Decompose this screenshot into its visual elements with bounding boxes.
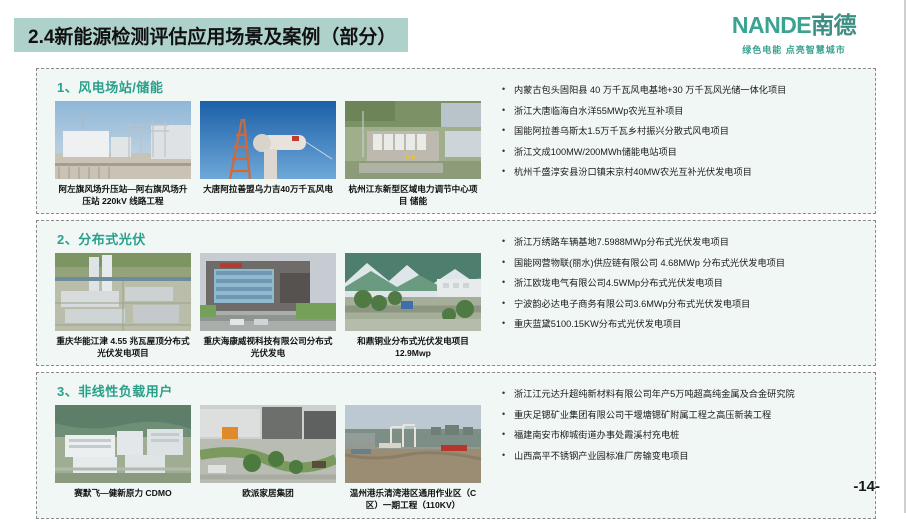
list-item: 国能阿拉善乌斯太1.5万千瓦乡村振兴分散式风电项目 [500,126,867,138]
section-3-heading: 3、非线性负载用户 [57,381,486,400]
card-caption: 重庆华能江津 4.55 兆瓦屋顶分布式光伏发电项目 [55,336,191,359]
card[interactable]: 赛默飞—健新原力 CDMO [55,405,191,511]
card-caption: 杭州江东新型区域电力调节中心项目 储能 [345,184,481,207]
section-2-bullets: 浙江万绣路车辆基地7.5988MWp分布式光伏发电项目 国能网营物联(丽水)供应… [486,227,867,359]
card-caption: 重庆海康威视科技有限公司分布式光伏发电 [200,336,336,359]
list-item: 宁波韵必达电子商务有限公司3.6MWp分布式光伏发电项目 [500,299,867,311]
slide-header: 2.4新能源检测评估应用场景及案例（部分） NANDE南德 绿色电能 点亮智慧城… [0,0,906,66]
section-1-bullets: 内蒙古包头固阳县 40 万千瓦风电基地+30 万千瓦风光储一体化项目 浙江大唐临… [486,75,867,207]
card-caption: 大唐阿拉善盟乌力吉40万千瓦风电 [200,184,336,196]
section-3-cards: 赛默飞—健新原力 CDMO [55,405,486,511]
factory-courtyard-photo [200,405,336,483]
wind-turbine-photo [200,101,336,179]
section-wind-storage: 1、风电场站/储能 [36,68,876,214]
list-item: 浙江江元达升超纯新材料有限公司年产5万吨超高纯金属及合金研究院 [500,389,867,401]
campus-mountain-photo [345,253,481,331]
card-caption: 和鼎铜业分布式光伏发电项目12.9Mwp [345,336,481,359]
section-1-cards: 阿左旗风场升压站—阿右旗风场升压站 220kV 线路工程 [55,101,486,207]
logo-wordmark-cn: 南德 [811,12,856,38]
section-3-gallery: 3、非线性负载用户 [51,379,486,511]
list-item: 山西高平不锈钢产业园标准厂房输变电项目 [500,451,867,463]
substation-photo [55,101,191,179]
list-item: 福建南安市柳城街道办事处霞溪村充电桩 [500,430,867,442]
card-caption: 赛默飞—健新原力 CDMO [55,488,191,500]
office-building-photo [200,253,336,331]
card[interactable]: 重庆华能江津 4.55 兆瓦屋顶分布式光伏发电项目 [55,253,191,359]
list-item: 内蒙古包头固阳县 40 万千瓦风电基地+30 万千瓦风光储一体化项目 [500,85,867,97]
card[interactable]: 温州港乐清湾港区通用作业区（C 区）一期工程（110KV） [345,405,481,511]
card[interactable]: 和鼎铜业分布式光伏发电项目12.9Mwp [345,253,481,359]
bullet-list: 浙江江元达升超纯新材料有限公司年产5万吨超高纯金属及合金研究院 重庆足锶矿业集团… [500,389,867,462]
logo-wordmark-en: NANDE [732,12,811,38]
list-item: 浙江万绣路车辆基地7.5988MWp分布式光伏发电项目 [500,237,867,249]
logo-wordmark: NANDE南德 [704,14,884,37]
section-2-gallery: 2、分布式光伏 [51,227,486,359]
card[interactable]: 欧派家居集团 [200,405,336,511]
section-2-heading: 2、分布式光伏 [57,229,486,248]
card-caption: 温州港乐清湾港区通用作业区（C 区）一期工程（110KV） [345,488,481,511]
port-terminal-photo [345,405,481,483]
aerial-energy-station-photo [345,101,481,179]
section-2-cards: 重庆华能江津 4.55 兆瓦屋顶分布式光伏发电项目 [55,253,486,359]
card-caption: 阿左旗风场升压站—阿右旗风场升压站 220kV 线路工程 [55,184,191,207]
bullet-list: 内蒙古包头固阳县 40 万千瓦风电基地+30 万千瓦风光储一体化项目 浙江大唐临… [500,85,867,179]
card[interactable]: 杭州江东新型区域电力调节中心项目 储能 [345,101,481,207]
bullet-list: 浙江万绣路车辆基地7.5988MWp分布式光伏发电项目 国能网营物联(丽水)供应… [500,237,867,331]
lab-campus-aerial-photo [55,405,191,483]
slide: 2.4新能源检测评估应用场景及案例（部分） NANDE南德 绿色电能 点亮智慧城… [0,0,906,513]
list-item: 浙江大唐临海白水洋55MWp农光互补项目 [500,106,867,118]
page-title: 2.4新能源检测评估应用场景及案例（部分） [28,22,396,49]
list-item: 浙江文成100MW/200MWh储能电站项目 [500,147,867,159]
section-nonlinear-load: 3、非线性负载用户 [36,372,876,518]
list-item: 浙江欧珑电气有限公司4.5WMp分布式光伏发电项目 [500,278,867,290]
card-caption: 欧派家居集团 [200,488,336,500]
list-item: 重庆蓝黛5100.15KW分布式光伏发电项目 [500,319,867,331]
company-logo: NANDE南德 绿色电能 点亮智慧城市 [704,14,884,56]
card[interactable]: 阿左旗风场升压站—阿右旗风场升压站 220kV 线路工程 [55,101,191,207]
list-item: 重庆足锶矿业集团有限公司干堰塘锶矿附属工程之高压新装工程 [500,410,867,422]
list-item: 国能网营物联(丽水)供应链有限公司 4.68MWp 分布式光伏发电项目 [500,258,867,270]
card[interactable]: 大唐阿拉善盟乌力吉40万千瓦风电 [200,101,336,207]
list-item: 杭州千盛淳安县汾口镇宋京村40MW农光互补光伏发电项目 [500,167,867,179]
industrial-park-aerial-photo [55,253,191,331]
page-number: -14- [853,478,880,495]
card[interactable]: 重庆海康威视科技有限公司分布式光伏发电 [200,253,336,359]
section-1-heading: 1、风电场站/储能 [57,77,486,96]
sections-container: 1、风电场站/储能 [36,68,876,525]
section-3-bullets: 浙江江元达升超纯新材料有限公司年产5万吨超高纯金属及合金研究院 重庆足锶矿业集团… [486,379,867,511]
page-title-band: 2.4新能源检测评估应用场景及案例（部分） [14,18,408,52]
section-distributed-pv: 2、分布式光伏 [36,220,876,366]
section-1-gallery: 1、风电场站/储能 [51,75,486,207]
logo-tagline: 绿色电能 点亮智慧城市 [704,43,884,56]
